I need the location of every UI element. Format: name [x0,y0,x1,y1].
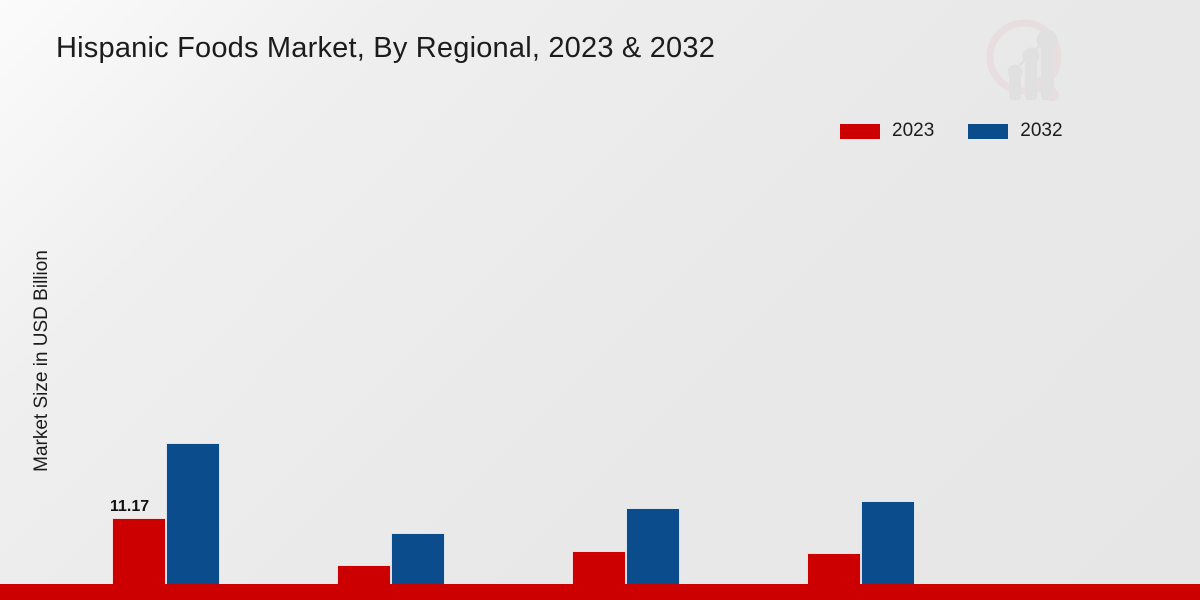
legend-label-2023: 2023 [892,120,934,142]
bar-group [807,150,913,600]
legend-swatch-2023 [840,124,880,139]
bar-2032-north-america[interactable] [166,443,220,600]
page-title: Hispanic Foods Market, By Regional, 2023… [56,32,715,65]
chart-legend: 2023 2032 [840,120,1063,142]
footer-accent-bar [0,584,1200,600]
legend-item-2023[interactable]: 2023 [840,120,934,142]
bar-group [337,150,443,600]
bar-group [112,150,218,600]
legend-label-2032: 2032 [1020,120,1062,142]
chart-page: Hispanic Foods Market, By Regional, 2023… [0,0,1200,600]
legend-item-2032[interactable]: 2032 [968,120,1062,142]
legend-swatch-2032 [968,124,1008,139]
magnifier-bar-chart-logo-icon [978,12,1082,116]
bar-value-label: 11.17 [110,498,149,516]
bar-group [1022,150,1128,600]
plot-area: 11.17 NORTHAMERICAEUROPESOUTHAMERICAASIA… [40,150,1190,470]
bar-group [572,150,678,600]
